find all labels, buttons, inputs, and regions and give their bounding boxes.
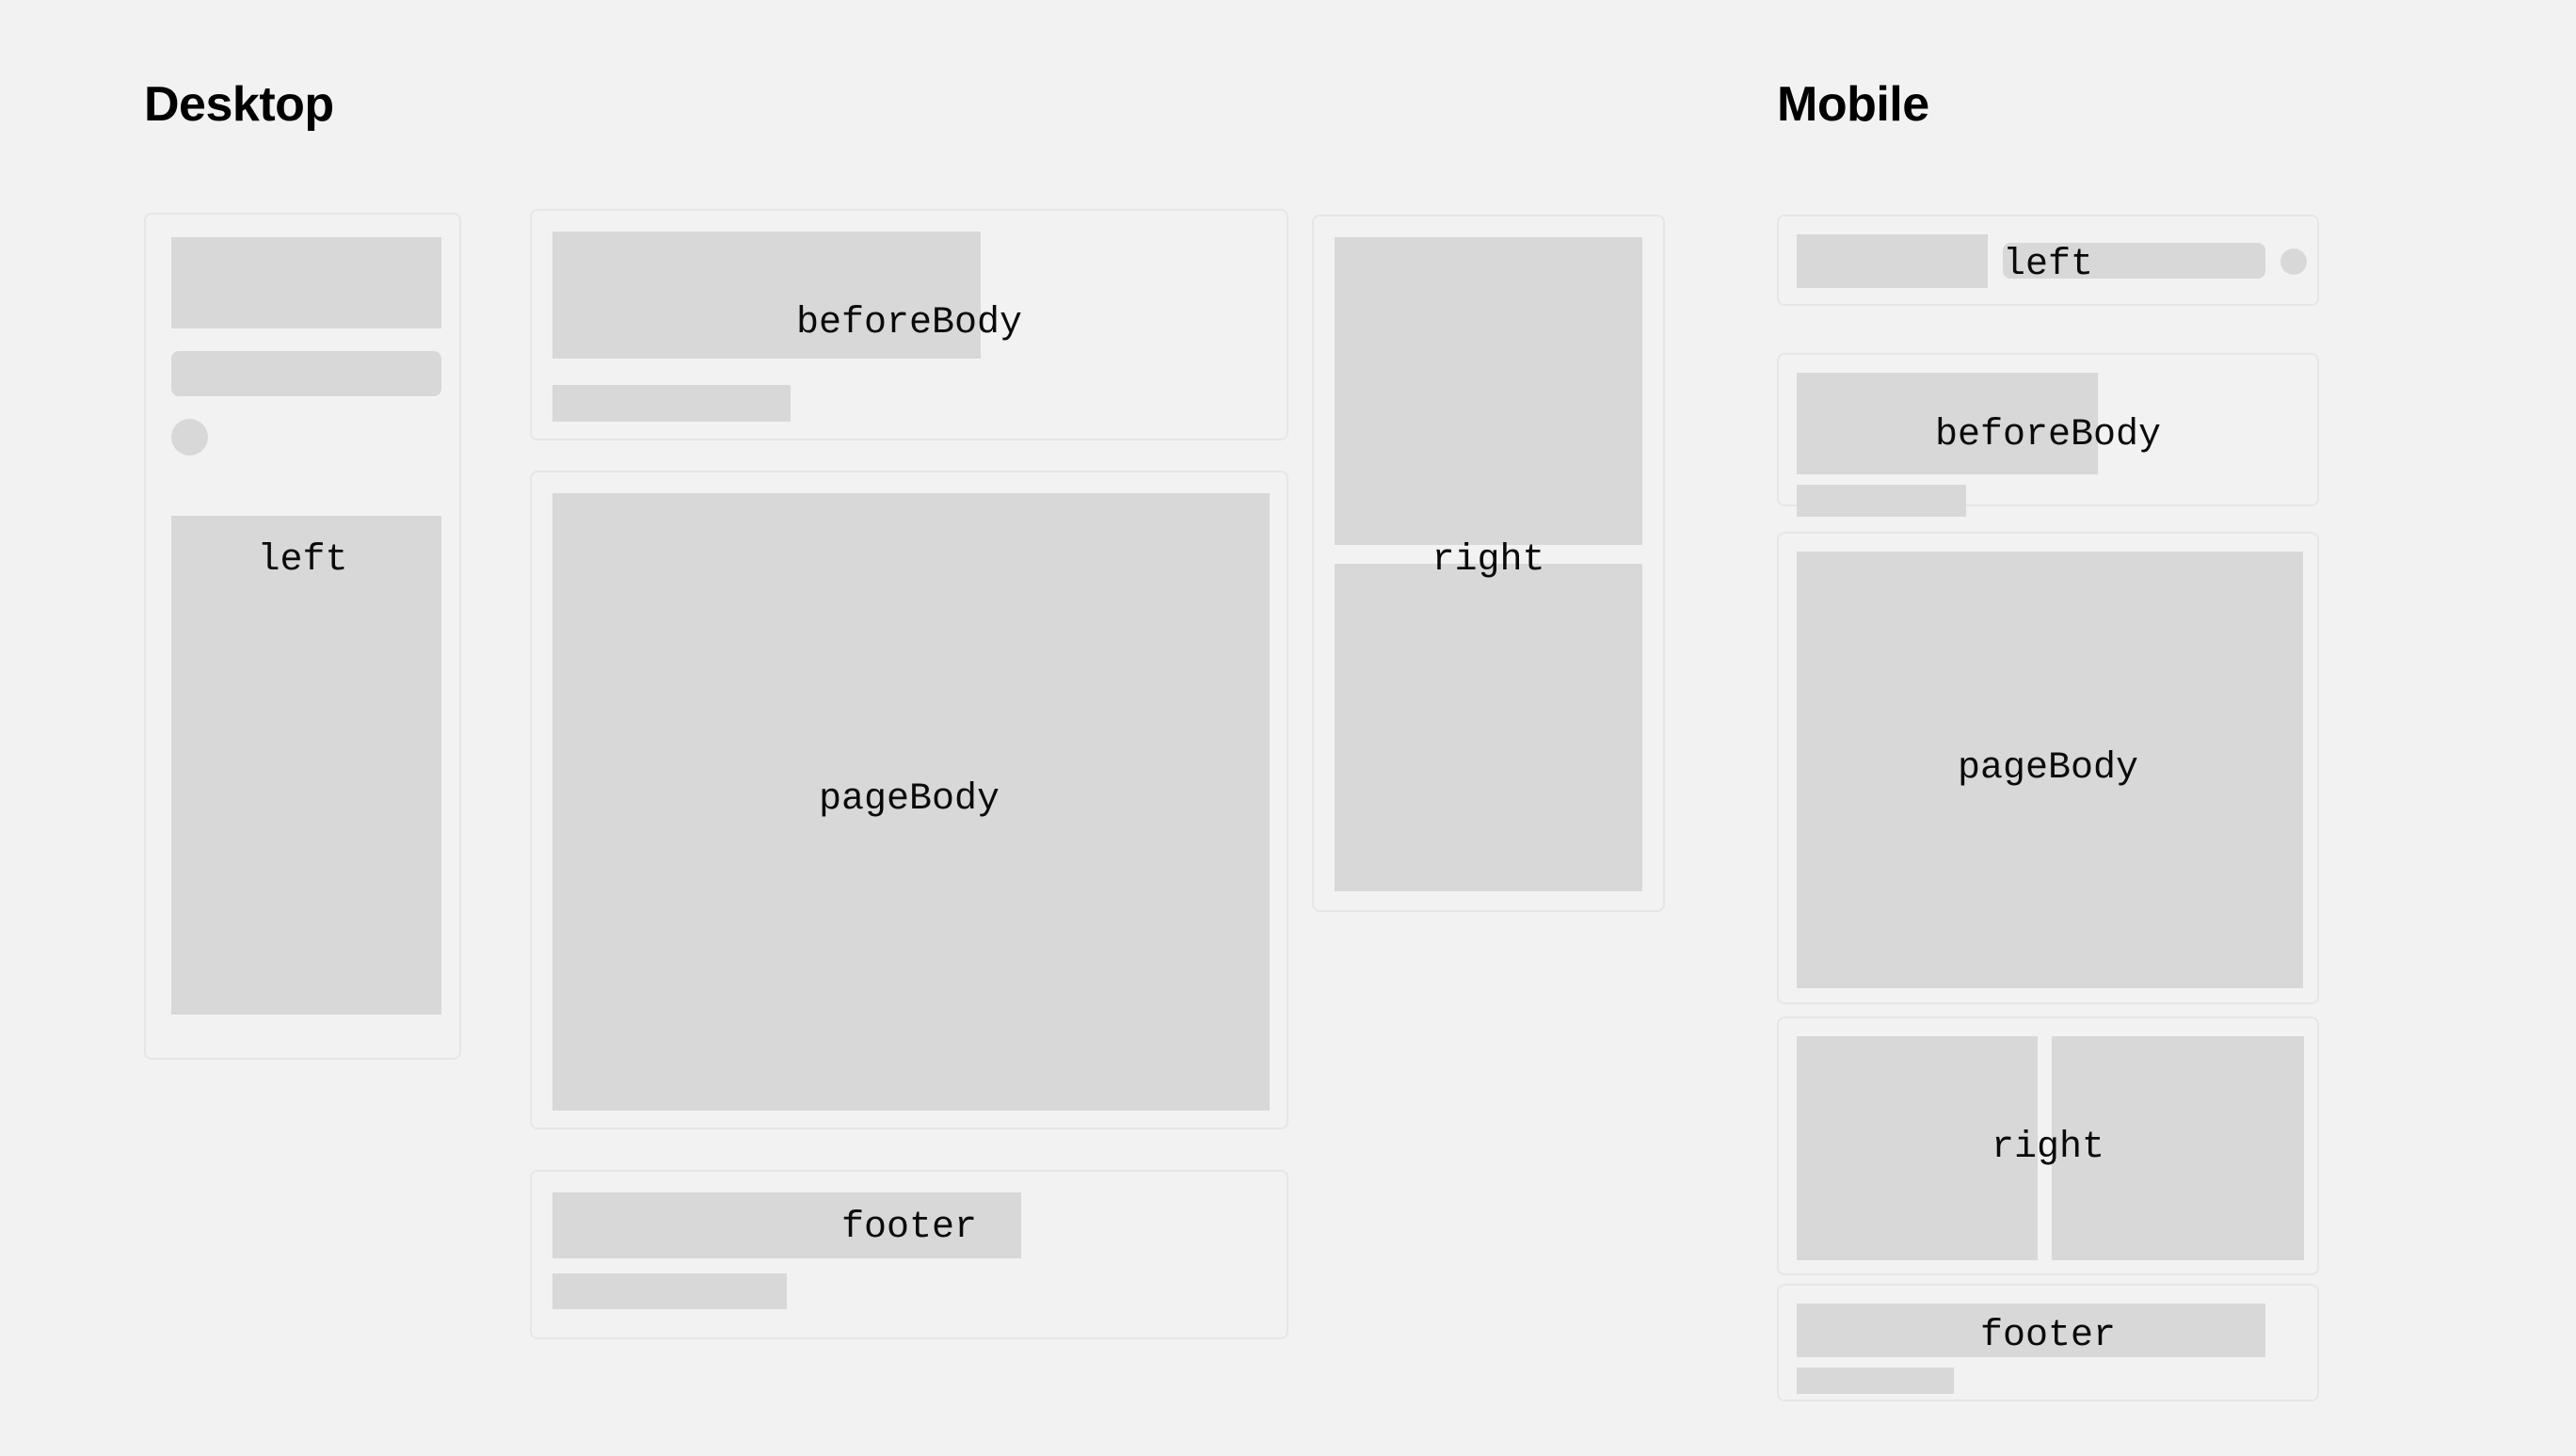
placeholder-block [171,351,441,396]
mobile-heading: Mobile [1777,80,1929,129]
placeholder-block [1797,373,2098,474]
placeholder-block [552,1273,787,1309]
mobile-beforebody-region-card[interactable] [1777,353,2319,506]
placeholder-block [552,232,981,359]
placeholder-block [1335,564,1642,891]
placeholder-avatar-circle [2280,248,2307,275]
placeholder-avatar-circle [171,419,208,456]
placeholder-block [1797,1304,2265,1357]
desktop-right-region-card[interactable] [1312,215,1665,912]
mobile-pagebody-region-card[interactable] [1777,532,2319,1004]
placeholder-block [552,1192,1021,1258]
placeholder-block [2003,243,2265,279]
placeholder-block [171,237,441,328]
placeholder-block [1797,1368,1954,1394]
placeholder-block [552,493,1270,1111]
desktop-left-region-card[interactable] [144,213,461,1060]
placeholder-block [1797,234,1988,288]
placeholder-block [2052,1036,2304,1260]
wireframe-canvas: Desktop Mobile left beforeBody pageBody … [0,0,2576,1456]
desktop-footer-region-card[interactable] [530,1170,1288,1339]
mobile-footer-region-card[interactable] [1777,1284,2319,1401]
placeholder-block [552,385,791,422]
placeholder-block [1335,237,1642,545]
mobile-left-region-card[interactable] [1777,215,2319,306]
placeholder-block [171,516,441,1015]
desktop-heading: Desktop [144,80,334,129]
mobile-right-region-card[interactable] [1777,1016,2319,1275]
placeholder-block [1797,1036,2038,1260]
desktop-beforebody-region-card[interactable] [530,209,1288,440]
placeholder-block [1797,552,2303,988]
desktop-pagebody-region-card[interactable] [530,471,1288,1129]
placeholder-block [1797,485,1966,517]
